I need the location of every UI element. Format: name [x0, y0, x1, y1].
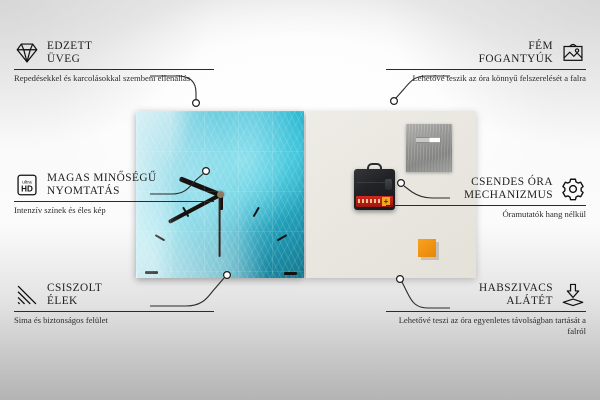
connector-dot-handles: [391, 98, 398, 105]
clock-tick-8: [153, 272, 222, 278]
svg-text:HD: HD: [21, 185, 33, 194]
gear-icon: [560, 176, 586, 202]
foam-spacer-pad: [418, 239, 436, 257]
feature-high-quality-print: ultra HD MAGAS MINŐSÉGŰNYOMTATÁS Intenzí…: [14, 172, 214, 216]
feature-description: Óramutatók hang nélkül: [386, 209, 586, 220]
connector-dot-tempered-glass: [193, 100, 200, 107]
feature-title: EDZETTÜVEG: [47, 40, 92, 66]
clock-tick-5: [220, 272, 261, 278]
metal-hanging-bracket: [406, 124, 452, 172]
feature-description: Sima és biztonságos felület: [14, 315, 214, 326]
bracket-slot: [415, 137, 441, 143]
clock-second-hand: [219, 195, 221, 257]
mechanism-hanger-hook: [367, 163, 382, 171]
clock-tick-10: [153, 233, 222, 274]
infographic-canvas: +: [0, 0, 600, 400]
feature-header: HABSZIVACSALÁTÉT: [386, 282, 586, 308]
feature-title: CSENDES ÓRAMECHANIZMUS: [464, 176, 553, 202]
clock-tick-2: [221, 233, 290, 274]
clock-tick-7: [181, 272, 222, 278]
feature-foam-pad: HABSZIVACSALÁTÉT Lehetővé teszi az óra e…: [386, 282, 586, 337]
feature-title: FÉMFOGANTYÚK: [479, 40, 553, 66]
feature-divider: [14, 311, 214, 312]
feature-title: CSISZOLTÉLEK: [47, 282, 102, 308]
clock-tick-3: [221, 272, 299, 274]
feature-header: EDZETTÜVEG: [14, 40, 214, 66]
clock-tick-9: [143, 272, 221, 274]
feature-divider: [14, 201, 214, 202]
feature-title: HABSZIVACSALÁTÉT: [479, 282, 553, 308]
diamond-icon: [14, 40, 40, 66]
polished-edges-icon: [14, 282, 40, 308]
feature-metal-handles: FÉMFOGANTYÚK Lehetővé teszik az óra könn…: [386, 40, 586, 84]
picture-hanger-icon: [560, 40, 586, 66]
feature-header: ultra HD MAGAS MINŐSÉGŰNYOMTATÁS: [14, 172, 214, 198]
feature-description: Intenzív színek és éles kép: [14, 205, 214, 216]
feature-description: Lehetővé teszik az óra könnyű felszerelé…: [386, 73, 586, 84]
feature-divider: [386, 69, 586, 70]
feature-title: MAGAS MINŐSÉGŰNYOMTATÁS: [47, 172, 157, 198]
ultra-hd-icon: ultra HD: [14, 172, 40, 198]
clock-tick-12: [220, 195, 222, 273]
clock-tick-1: [220, 204, 261, 273]
feature-description: Repedésekkel és karcolásokkal szembeni e…: [14, 73, 214, 84]
feature-header: FÉMFOGANTYÚK: [386, 40, 586, 66]
feature-silent-mechanism: CSENDES ÓRAMECHANIZMUS Óramutatók hang n…: [386, 176, 586, 220]
feature-tempered-glass: EDZETTÜVEG Repedésekkel és karcolásokkal…: [14, 40, 214, 84]
feature-header: CSENDES ÓRAMECHANIZMUS: [386, 176, 586, 202]
feature-header: CSISZOLTÉLEK: [14, 282, 214, 308]
feature-description: Lehetővé teszi az óra egyenletes távolsá…: [386, 315, 586, 337]
feature-divider: [386, 205, 586, 206]
feature-divider: [386, 311, 586, 312]
clock-center-pivot: [217, 191, 224, 198]
foam-pad-arrow-icon: [560, 282, 586, 308]
clock-tick-4: [221, 272, 290, 278]
clock-tick-6: [220, 273, 222, 279]
feature-polished-edges: CSISZOLTÉLEK Sima és biztonságos felület: [14, 282, 214, 326]
feature-divider: [14, 69, 214, 70]
